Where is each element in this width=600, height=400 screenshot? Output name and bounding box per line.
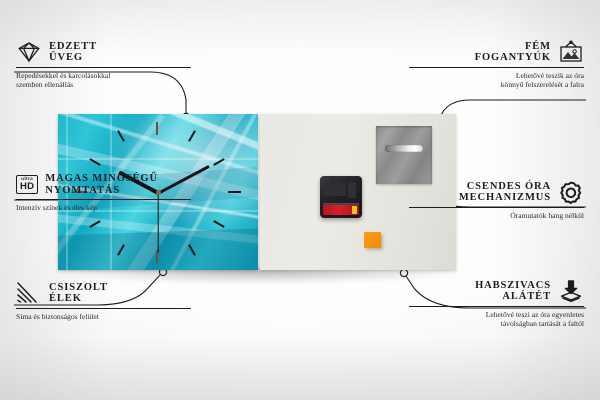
press-down-pad-icon (558, 279, 584, 303)
feature-description: Intenzív színek és éles kép (16, 203, 191, 212)
divider (409, 207, 584, 208)
diamond-icon (16, 40, 42, 64)
feature-polished-edges: CSISZOLT ÉLEK Sima és biztonságos felüle… (16, 281, 191, 321)
feature-tempered-glass: EDZETT ÜVEG Repedésekkel és karcolásokka… (16, 40, 191, 90)
divider (16, 308, 191, 309)
clock-tick (156, 122, 158, 135)
feature-description: Repedésekkel és karcolásokkal szemben el… (16, 71, 191, 90)
divider (16, 199, 191, 200)
polished-edge-icon (16, 281, 42, 305)
divider (409, 306, 584, 307)
feature-description: Lehetővé teszik az óra könnyű felszerelé… (409, 71, 584, 90)
battery (323, 205, 359, 215)
mechanism-body (324, 183, 346, 196)
feature-title: EDZETT ÜVEG (49, 41, 97, 64)
picture-hanger-icon (558, 40, 584, 64)
feature-title: HABSZIVACS ALÁTÉT (475, 280, 551, 303)
feature-description: Sima és biztonságos felület (16, 312, 191, 321)
ultra-hd-badge-icon: ultra HD (16, 175, 38, 194)
foam-pad (364, 232, 381, 248)
feature-title: FÉM FOGANTYÚK (475, 41, 551, 64)
divider (16, 67, 191, 68)
hanger-slot (385, 145, 423, 152)
feature-description: Óramutatók hang nélkül (409, 211, 584, 220)
feature-foam-pad: HABSZIVACS ALÁTÉT Lehetővé teszi az óra … (409, 279, 584, 329)
clock-mechanism (320, 176, 362, 218)
divider (409, 67, 584, 68)
infographic-canvas: EDZETT ÜVEG Repedésekkel és karcolásokka… (0, 0, 600, 400)
feature-silent-mechanism: CSENDES ÓRA MECHANIZMUS Óramutatók hang … (409, 180, 584, 220)
feature-high-quality-print: ultra HD MAGAS MINŐSÉGŰ NYOMTATÁS Intenz… (16, 173, 191, 212)
mechanism-side (348, 182, 356, 198)
badge-hd-label: HD (20, 182, 34, 192)
feature-metal-handles: FÉM FOGANTYÚK Lehetővé teszik az óra kön… (409, 40, 584, 90)
feature-title: CSISZOLT ÉLEK (49, 282, 108, 305)
feature-title: MAGAS MINŐSÉGŰ NYOMTATÁS (45, 173, 158, 196)
callout-line-metal-handles (436, 100, 586, 128)
gear-icon (558, 180, 584, 204)
metal-hanger-plate (376, 126, 432, 184)
clock-tick (228, 191, 241, 193)
feature-title: CSENDES ÓRA MECHANIZMUS (459, 181, 551, 204)
feature-description: Lehetővé teszi az óra egyenletes távolsá… (409, 310, 584, 329)
